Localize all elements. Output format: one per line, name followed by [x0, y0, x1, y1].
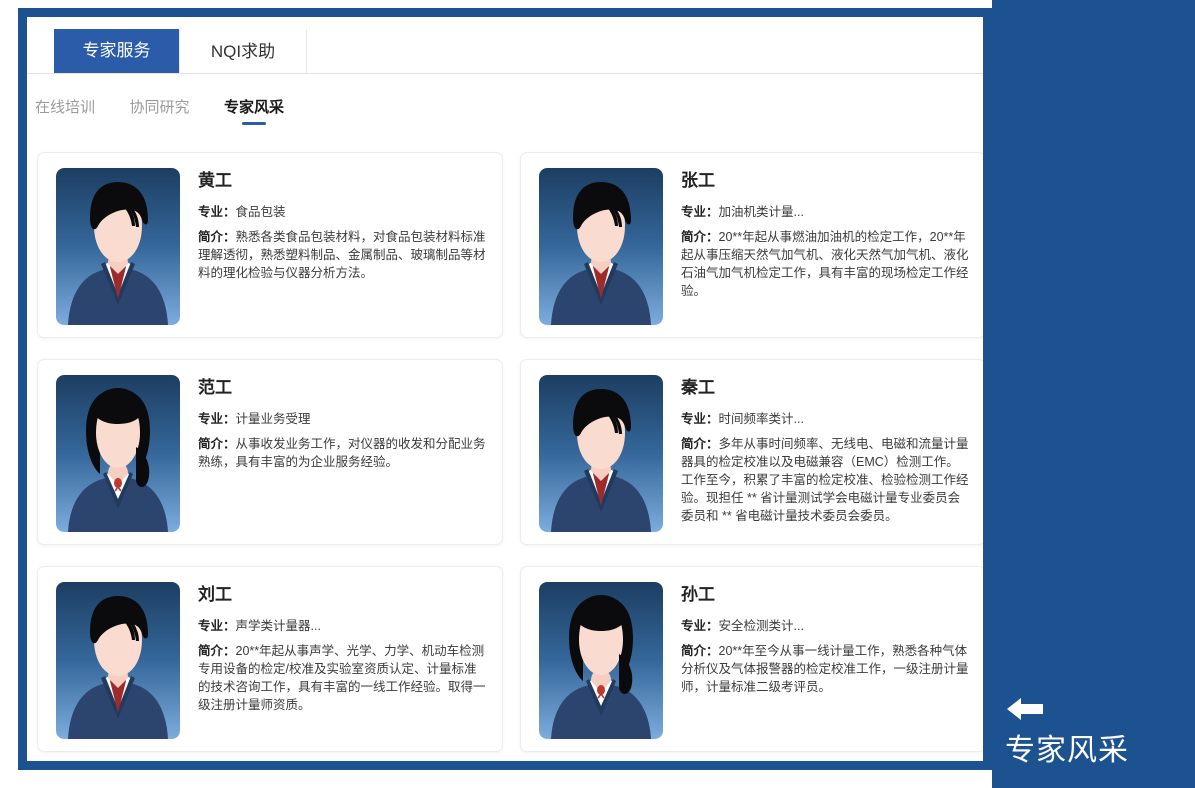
- expert-info: 黄工专业：食品包装简介：熟悉各类食品包装材料，对食品包装材料标准理解透彻，熟悉塑…: [198, 170, 488, 282]
- major-label: 专业：: [681, 619, 719, 633]
- sub-tab-bar: 在线培训 协同研究 专家风采: [35, 96, 983, 130]
- bio-value: 从事收发业务工作，对仪器的收发和分配业务熟练，具有丰富的为企业服务经验。: [198, 437, 486, 469]
- expert-major: 专业：加油机类计量...: [681, 203, 971, 221]
- expert-name: 刘工: [198, 584, 488, 606]
- expert-info: 刘工专业：声学类计量器...简介：20**年起从事声学、光学、力学、机动车检测专…: [198, 584, 488, 714]
- bio-label: 简介：: [198, 644, 236, 658]
- expert-bio: 简介：熟悉各类食品包装材料，对食品包装材料标准理解透彻，熟悉塑料制品、金属制品、…: [198, 228, 488, 282]
- expert-name: 秦工: [681, 377, 971, 399]
- bio-value: 20**年起从事声学、光学、力学、机动车检测专用设备的检定/校准及实验室资质认定…: [198, 644, 486, 712]
- major-value: 食品包装: [236, 205, 286, 219]
- expert-info: 张工专业：加油机类计量...简介：20**年起从事燃油加油机的检定工作，20**…: [681, 170, 971, 300]
- annotation-callout: 专家风采: [1005, 694, 1185, 770]
- bio-value: 20**年起从事燃油加油机的检定工作，20**年起从事压缩天然气加气机、液化天然…: [681, 230, 969, 298]
- expert-bio: 简介：20**年至今从事一线计量工作，熟悉各种气体分析仪及气体报警器的检定校准工…: [681, 642, 971, 696]
- expert-name: 范工: [198, 377, 488, 399]
- subtab-expert-showcase[interactable]: 专家风采: [224, 96, 284, 125]
- bio-value: 多年从事时间频率、无线电、电磁和流量计量器具的检定校准以及电磁兼容（EMC）检测…: [681, 437, 969, 523]
- expert-bio: 简介：从事收发业务工作，对仪器的收发和分配业务熟练，具有丰富的为企业服务经验。: [198, 435, 488, 471]
- expert-card[interactable]: 范工专业：计量业务受理简介：从事收发业务工作，对仪器的收发和分配业务熟练，具有丰…: [37, 359, 503, 545]
- expert-info: 孙工专业：安全检测类计...简介：20**年至今从事一线计量工作，熟悉各种气体分…: [681, 584, 971, 696]
- expert-card-grid: 黄工专业：食品包装简介：熟悉各类食品包装材料，对食品包装材料标准理解透彻，熟悉塑…: [27, 152, 983, 752]
- major-value: 加油机类计量...: [719, 205, 804, 219]
- avatar: [56, 168, 180, 325]
- major-label: 专业：: [681, 205, 719, 219]
- major-value: 计量业务受理: [236, 412, 311, 426]
- expert-card[interactable]: 黄工专业：食品包装简介：熟悉各类食品包装材料，对食品包装材料标准理解透彻，熟悉塑…: [37, 152, 503, 338]
- page-content: 专家服务 NQI求助 在线培训 协同研究 专家风采 黄工专业：食品包装简介：熟悉…: [27, 17, 983, 761]
- expert-major: 专业：时间频率类计...: [681, 410, 971, 428]
- avatar: [539, 168, 663, 325]
- subtab-online-training[interactable]: 在线培训: [35, 96, 95, 125]
- expert-card[interactable]: 秦工专业：时间频率类计...简介：多年从事时间频率、无线电、电磁和流量计量器具的…: [520, 359, 983, 545]
- major-label: 专业：: [681, 412, 719, 426]
- expert-info: 秦工专业：时间频率类计...简介：多年从事时间频率、无线电、电磁和流量计量器具的…: [681, 377, 971, 525]
- expert-card[interactable]: 孙工专业：安全检测类计...简介：20**年至今从事一线计量工作，熟悉各种气体分…: [520, 566, 983, 752]
- bio-label: 简介：: [681, 230, 719, 244]
- avatar: [539, 375, 663, 532]
- major-label: 专业：: [198, 619, 236, 633]
- major-label: 专业：: [198, 205, 236, 219]
- bio-label: 简介：: [198, 230, 236, 244]
- bio-label: 简介：: [198, 437, 236, 451]
- bio-label: 简介：: [681, 644, 719, 658]
- annotation-label: 专家风采: [1005, 732, 1185, 770]
- bio-value: 熟悉各类食品包装材料，对食品包装材料标准理解透彻，熟悉塑料制品、金属制品、玻璃制…: [198, 230, 486, 280]
- expert-name: 孙工: [681, 584, 971, 606]
- avatar: [539, 582, 663, 739]
- expert-bio: 简介：多年从事时间频率、无线电、电磁和流量计量器具的检定校准以及电磁兼容（EMC…: [681, 435, 971, 525]
- expert-bio: 简介：20**年起从事燃油加油机的检定工作，20**年起从事压缩天然气加气机、液…: [681, 228, 971, 300]
- tab-expert-service[interactable]: 专家服务: [54, 29, 179, 73]
- expert-major: 专业：食品包装: [198, 203, 488, 221]
- avatar: [56, 582, 180, 739]
- expert-major: 专业：计量业务受理: [198, 410, 488, 428]
- expert-name: 张工: [681, 170, 971, 192]
- expert-bio: 简介：20**年起从事声学、光学、力学、机动车检测专用设备的检定/校准及实验室资…: [198, 642, 488, 714]
- expert-card[interactable]: 刘工专业：声学类计量器...简介：20**年起从事声学、光学、力学、机动车检测专…: [37, 566, 503, 752]
- expert-card[interactable]: 张工专业：加油机类计量...简介：20**年起从事燃油加油机的检定工作，20**…: [520, 152, 983, 338]
- expert-name: 黄工: [198, 170, 488, 192]
- major-value: 声学类计量器...: [236, 619, 321, 633]
- annotation-panel: [992, 0, 1195, 788]
- subtab-collaborative-research[interactable]: 协同研究: [129, 96, 189, 125]
- left-arrow-icon: [1005, 694, 1185, 728]
- major-value: 安全检测类计...: [719, 619, 804, 633]
- major-label: 专业：: [198, 412, 236, 426]
- major-value: 时间频率类计...: [719, 412, 804, 426]
- expert-info: 范工专业：计量业务受理简介：从事收发业务工作，对仪器的收发和分配业务熟练，具有丰…: [198, 377, 488, 471]
- expert-major: 专业：声学类计量器...: [198, 617, 488, 635]
- main-tab-bar: 专家服务 NQI求助: [27, 29, 983, 74]
- avatar: [56, 375, 180, 532]
- expert-major: 专业：安全检测类计...: [681, 617, 971, 635]
- bio-value: 20**年至今从事一线计量工作，熟悉各种气体分析仪及气体报警器的检定校准工作，一…: [681, 644, 969, 694]
- tab-nqi-help[interactable]: NQI求助: [179, 29, 307, 73]
- bio-label: 简介：: [681, 437, 719, 451]
